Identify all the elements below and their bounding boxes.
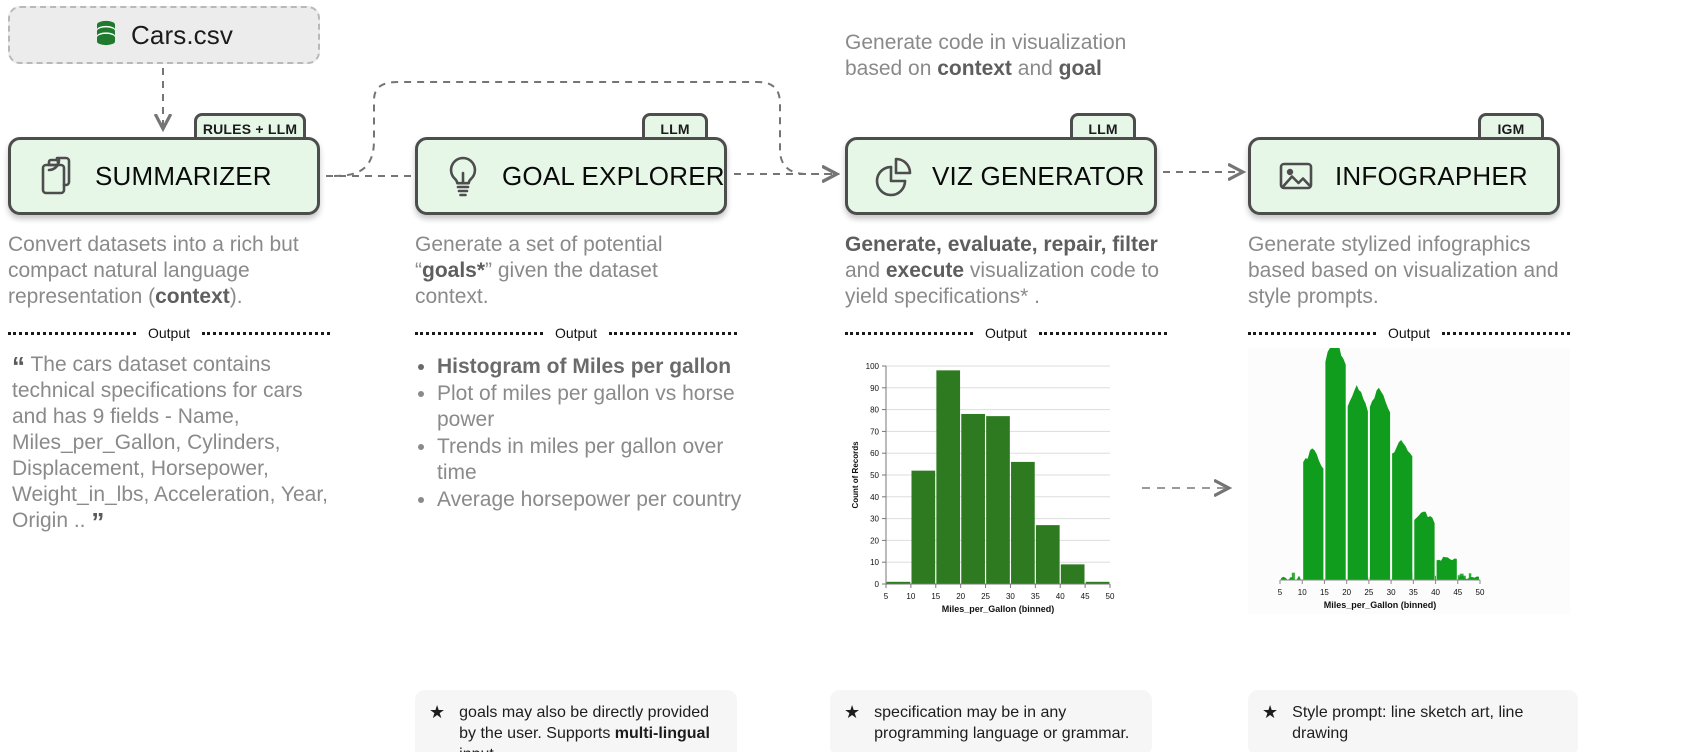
goal-output-list: Histogram of Miles per gallonPlot of mil… <box>415 354 745 514</box>
svg-text:15: 15 <box>1320 588 1329 597</box>
divider-label: Output <box>551 325 601 341</box>
histogram-bar <box>1036 525 1060 584</box>
svg-text:20: 20 <box>870 536 879 545</box>
goal-list-item: Trends in miles per gallon over time <box>437 434 745 486</box>
lightbulb-icon <box>442 153 484 199</box>
divider-label: Output <box>1384 325 1434 341</box>
svg-text:25: 25 <box>981 592 990 601</box>
close-quote: ” <box>91 507 104 537</box>
divider-rule-left <box>845 332 973 335</box>
stage-tab-label: LLM <box>1088 121 1117 137</box>
svg-text:70: 70 <box>870 427 879 436</box>
infographer-footnote: ★ Style prompt: line sketch art, line dr… <box>1248 690 1578 752</box>
image-icon <box>1275 155 1317 197</box>
svg-text:40: 40 <box>870 493 879 502</box>
svg-text:60: 60 <box>870 449 879 458</box>
database-icon <box>95 20 117 51</box>
svg-text:15: 15 <box>931 592 940 601</box>
stage-description-infographer: Generate stylized infographics based bas… <box>1248 232 1570 310</box>
star-icon: ★ <box>429 702 445 752</box>
svg-text:10: 10 <box>870 558 879 567</box>
sketch-bar <box>1437 557 1457 580</box>
svg-text:50: 50 <box>1476 588 1485 597</box>
summarizer-output-text: The cars dataset contains technical spec… <box>12 353 328 532</box>
stage-title: SUMMARIZER <box>95 161 272 192</box>
goal-list-item: Average horsepower per country <box>437 487 745 513</box>
viz-generator-caption: Generate code in visualization based on … <box>845 30 1175 82</box>
stage-card-infographer[interactable]: INFOGRAPHER <box>1248 137 1560 215</box>
svg-text:5: 5 <box>884 592 889 601</box>
svg-text:Count of Records: Count of Records <box>851 441 860 509</box>
stage-tab-label: LLM <box>660 121 689 137</box>
histogram-bar <box>911 471 935 584</box>
divider-rule-right <box>1039 332 1167 335</box>
histogram-bar <box>1061 564 1085 584</box>
infographer-chart: 5101520253035404550Miles_per_Gallon (bin… <box>1248 348 1570 614</box>
divider-rule-left <box>1248 332 1376 335</box>
stage-title: VIZ GENERATOR <box>932 161 1145 192</box>
histogram-bar <box>961 414 985 584</box>
output-divider-goal-explorer: Output <box>415 325 737 341</box>
svg-text:45: 45 <box>1081 592 1090 601</box>
divider-rule-left <box>8 332 136 335</box>
viz-generator-chart: 0102030405060708090100510152025303540455… <box>848 352 1118 614</box>
divider-rule-right <box>1442 332 1570 335</box>
viz-footnote: ★ specification may be in any programmin… <box>830 690 1152 752</box>
summarizer-output-quote: “ The cars dataset contains technical sp… <box>12 352 342 534</box>
svg-text:35: 35 <box>1031 592 1040 601</box>
svg-text:80: 80 <box>870 406 879 415</box>
histogram-bar <box>1011 462 1035 584</box>
svg-text:30: 30 <box>1006 592 1015 601</box>
dataset-name: Cars.csv <box>131 20 233 51</box>
stage-tab-label: RULES + LLM <box>203 121 297 137</box>
output-divider-viz-generator: Output <box>845 325 1167 341</box>
sketch-bar <box>1325 348 1345 580</box>
pipeline-diagram: Cars.csv Generate code in visualization … <box>0 0 1702 752</box>
svg-text:Miles_per_Gallon (binned): Miles_per_Gallon (binned) <box>1324 600 1437 610</box>
sketch-bar <box>1303 448 1323 580</box>
stage-card-goal-explorer[interactable]: GOAL EXPLORER <box>415 137 727 215</box>
histogram-bar <box>936 370 960 584</box>
sketch-bar <box>1348 385 1368 580</box>
svg-text:40: 40 <box>1431 588 1440 597</box>
star-icon: ★ <box>1262 702 1278 744</box>
stage-description-viz-generator: Generate, evaluate, repair, filter and e… <box>845 232 1167 310</box>
stage-description-goal-explorer: Generate a set of potential “goals*” giv… <box>415 232 737 310</box>
svg-text:20: 20 <box>956 592 965 601</box>
stage-card-summarizer[interactable]: SUMMARIZER <box>8 137 320 215</box>
svg-text:50: 50 <box>1106 592 1115 601</box>
clipboard-copy-icon <box>35 154 77 198</box>
goal-footnote: ★ goals may also be directly provided by… <box>415 690 737 752</box>
divider-rule-left <box>415 332 543 335</box>
divider-rule-right <box>609 332 737 335</box>
output-divider-infographer: Output <box>1248 325 1570 341</box>
svg-text:0: 0 <box>875 580 880 589</box>
stage-title: INFOGRAPHER <box>1335 161 1528 192</box>
svg-text:30: 30 <box>1387 588 1396 597</box>
stage-title: GOAL EXPLORER <box>502 161 725 192</box>
svg-text:20: 20 <box>1342 588 1351 597</box>
sketch-bars <box>1281 348 1479 580</box>
svg-text:10: 10 <box>906 592 915 601</box>
pie-chart-icon <box>872 154 914 198</box>
infographer-footnote-text: Style prompt: line sketch art, line draw… <box>1292 702 1562 744</box>
open-quote: “ <box>12 351 25 381</box>
svg-text:45: 45 <box>1453 588 1462 597</box>
output-divider-summarizer: Output <box>8 325 330 341</box>
svg-text:90: 90 <box>870 384 879 393</box>
sketch-bar <box>1414 512 1434 580</box>
svg-text:50: 50 <box>870 471 879 480</box>
svg-text:40: 40 <box>1056 592 1065 601</box>
stage-card-viz-generator[interactable]: VIZ GENERATOR <box>845 137 1157 215</box>
dataset-chip[interactable]: Cars.csv <box>8 6 320 64</box>
divider-label: Output <box>144 325 194 341</box>
goal-list-item: Plot of miles per gallon vs horse power <box>437 381 745 433</box>
stage-description-summarizer: Convert datasets into a rich but compact… <box>8 232 330 310</box>
svg-text:100: 100 <box>866 362 880 371</box>
stage-tab-label: IGM <box>1497 121 1524 137</box>
svg-text:5: 5 <box>1278 588 1283 597</box>
svg-text:10: 10 <box>1298 588 1307 597</box>
sketch-bar <box>1392 440 1412 580</box>
goal-list-item: Histogram of Miles per gallon <box>437 354 745 380</box>
svg-text:25: 25 <box>1364 588 1373 597</box>
svg-text:Miles_per_Gallon (binned): Miles_per_Gallon (binned) <box>942 604 1055 614</box>
star-icon: ★ <box>844 702 860 744</box>
divider-rule-right <box>202 332 330 335</box>
svg-text:35: 35 <box>1409 588 1418 597</box>
sketch-bar <box>1370 388 1390 580</box>
histogram-bar <box>986 416 1010 584</box>
viz-footnote-text: specification may be in any programming … <box>874 702 1136 744</box>
svg-text:30: 30 <box>870 515 879 524</box>
divider-label: Output <box>981 325 1031 341</box>
goal-footnote-text: goals may also be directly provided by t… <box>459 702 721 752</box>
